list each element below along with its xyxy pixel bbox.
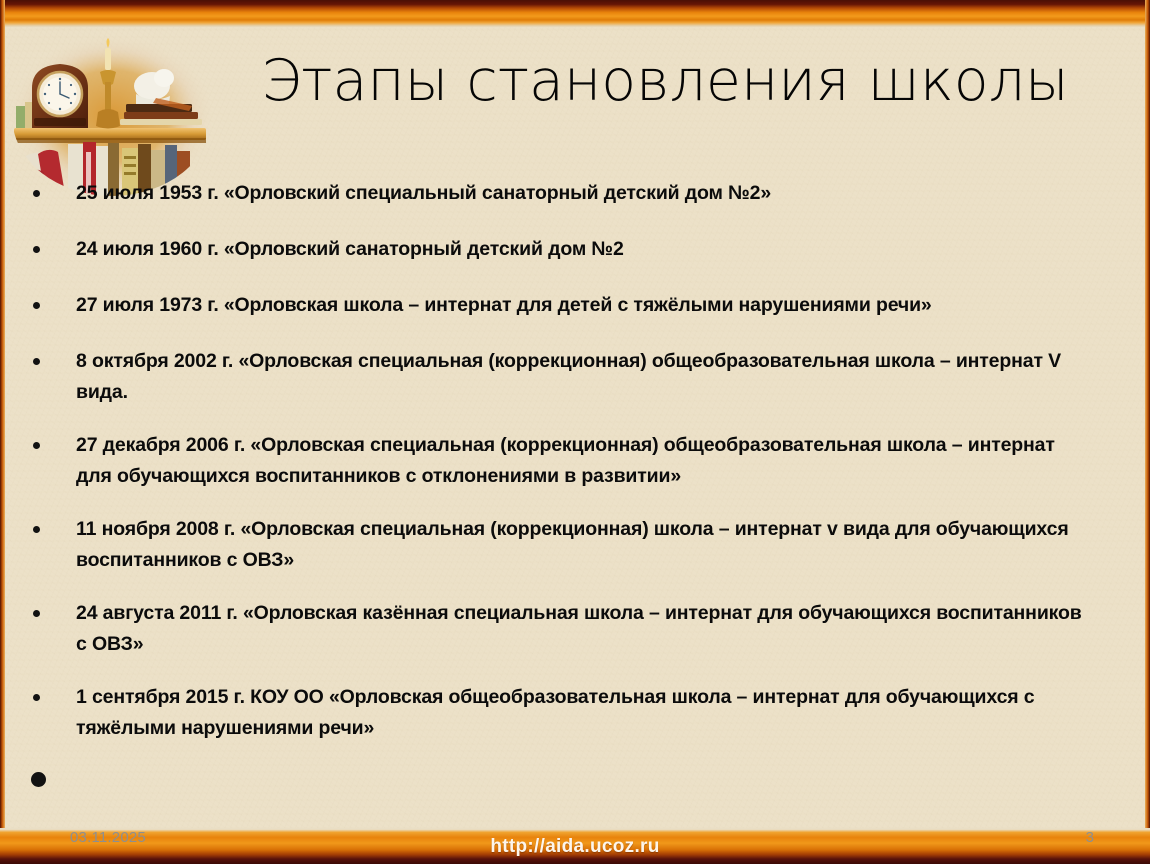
slide-title: Этапы становления школы <box>205 48 1125 114</box>
list-item: 11 ноября 2008 г. «Орловская специальная… <box>0 514 1150 576</box>
presentation-slide: Этапы становления школы 25 июля 1953 г. … <box>0 0 1150 864</box>
list-item: 25 июля 1953 г. «Орловский специальный с… <box>0 178 1150 209</box>
slide-body: 25 июля 1953 г. «Орловский специальный с… <box>0 178 1150 792</box>
footer-page-number: 3 <box>1086 829 1094 846</box>
list-item-empty <box>0 766 1150 792</box>
top-decorative-bar <box>0 0 1150 27</box>
list-item: 8 октября 2002 г. «Орловская специальная… <box>0 346 1150 408</box>
list-item: 27 июля 1973 г. «Орловская школа – интер… <box>0 290 1150 321</box>
list-item: 1 сентября 2015 г. КОУ ОО «Орловская общ… <box>0 682 1150 744</box>
footer-date: 03.11.2025 <box>70 829 146 846</box>
timeline-bullet-list: 25 июля 1953 г. «Орловский специальный с… <box>0 178 1150 792</box>
list-item: 27 декабря 2006 г. «Орловская специальна… <box>0 430 1150 492</box>
list-item: 24 августа 2011 г. «Орловская казённая с… <box>0 598 1150 660</box>
footer-watermark-url: http://aida.ucoz.ru <box>490 836 659 858</box>
list-item: 24 июля 1960 г. «Орловский санаторный де… <box>0 234 1150 265</box>
bookshelf-clock-books-icon <box>6 32 218 200</box>
